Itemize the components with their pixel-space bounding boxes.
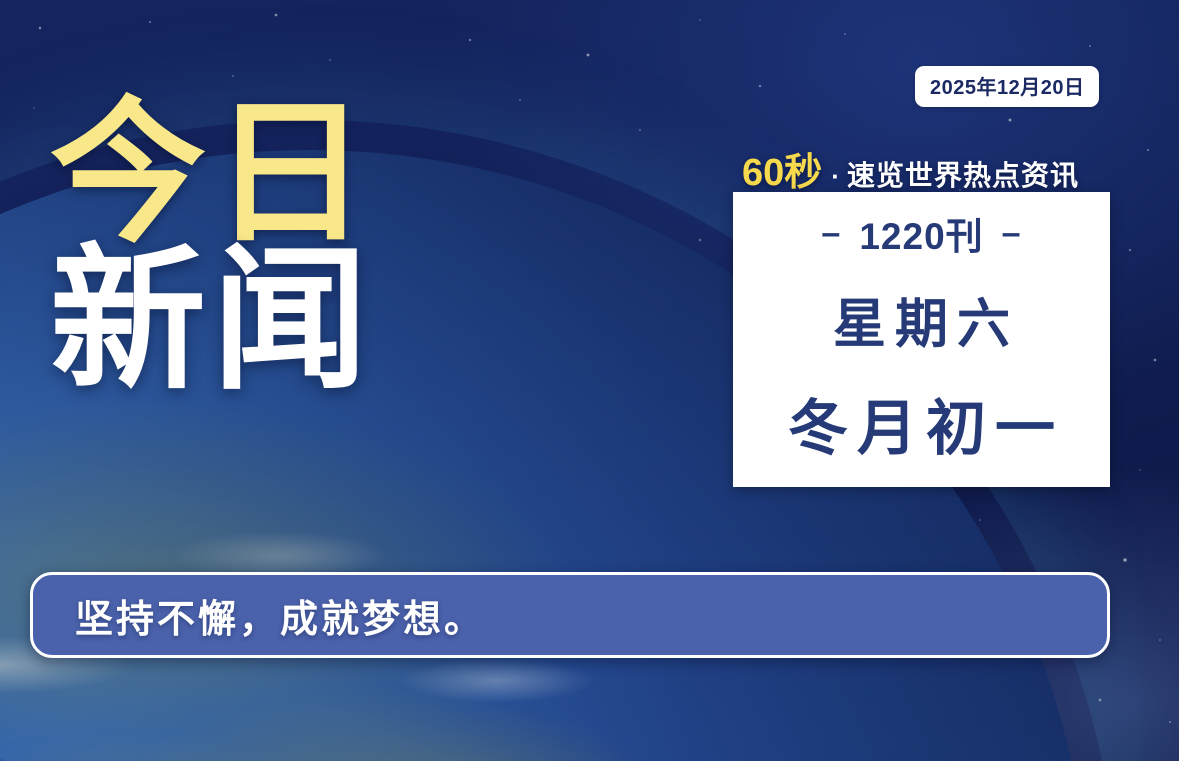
issue-dash-left-icon: – [821,214,841,253]
masthead-line-news: 新闻 [50,245,374,398]
quote-text: 坚持不懈，成就梦想。 [75,588,485,643]
date-badge: 2025年12月20日 [915,66,1099,107]
poster-canvas: sabcik 2025年12月20日 今日 新闻 60秒 · 速览世界热点资讯 … [0,0,1179,761]
masthead-line-today: 今日 [50,98,374,251]
quote-banner: 坚持不懈，成就梦想。 [30,572,1110,658]
info-card: – 1220刊 – 星期六 冬月初一 [733,192,1110,487]
tagline-duration: 60秒 [742,141,822,196]
lunar-date-label: 冬月初一 [779,380,1064,467]
tagline: 60秒 · 速览世界热点资讯 [742,141,1079,196]
issue-number: 1220刊 [859,206,983,260]
issue-dash-right-icon: – [1002,214,1022,253]
weekday-label: 星期六 [824,282,1019,358]
tagline-description: 速览世界热点资讯 [847,154,1079,194]
tagline-separator: · [831,161,840,192]
masthead-title: 今日 新闻 [50,98,374,398]
issue-number-row: – 1220刊 – [821,206,1021,260]
